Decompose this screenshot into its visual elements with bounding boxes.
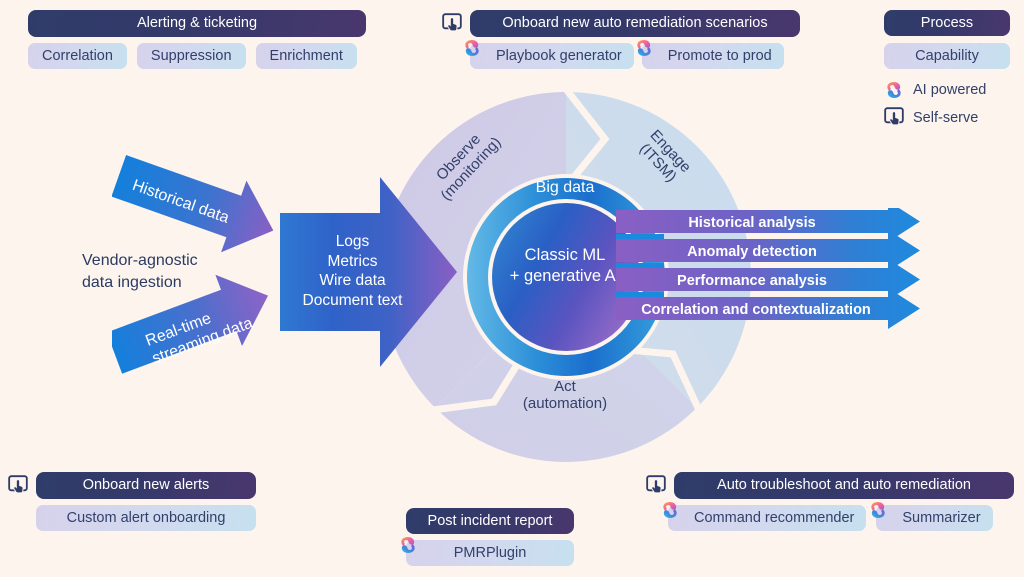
output-label-performance-analysis: Performance analysis xyxy=(616,273,888,289)
ingestion-caption-line2: data ingestion xyxy=(82,272,252,294)
output-label-historical-analysis: Historical analysis xyxy=(616,215,888,231)
copilot-icon xyxy=(868,500,888,520)
copilot-icon xyxy=(884,80,904,100)
ingestion-caption-line1: Vendor-agnostic xyxy=(82,250,252,272)
process-alerting-ticketing[interactable]: Alerting & ticketing xyxy=(28,10,366,37)
group-post-incident-report: Post incident report PMRPlugin xyxy=(406,508,574,566)
ring-label-act: Act (automation) xyxy=(505,378,625,413)
capability-pmrplugin[interactable]: PMRPlugin xyxy=(406,540,574,566)
legend: Process Capability AI power xyxy=(884,10,1010,128)
diagram-canvas: Observe (monitoring) Engage (ITSM) Act (… xyxy=(0,0,1024,577)
ring-label-act-line1: Act xyxy=(505,378,625,395)
copilot-icon xyxy=(462,38,482,58)
capability-playbook-generator[interactable]: Playbook generator xyxy=(470,43,634,69)
copilot-icon xyxy=(398,535,418,555)
self-serve-icon xyxy=(884,107,904,128)
group-auto-troubleshoot: Auto troubleshoot and auto remediation xyxy=(646,472,1014,531)
process-onboard-auto-remediation[interactable]: Onboard new auto remediation scenarios xyxy=(470,10,800,37)
pipeline-item-metrics: Metrics xyxy=(290,252,415,272)
self-serve-icon xyxy=(8,475,28,496)
capability-summarizer-label: Summarizer xyxy=(902,511,980,526)
legend-ai-powered-label: AI powered xyxy=(913,82,986,98)
legend-self-serve-label: Self-serve xyxy=(913,110,978,126)
process-post-incident-report[interactable]: Post incident report xyxy=(406,508,574,534)
process-onboard-new-alerts[interactable]: Onboard new alerts xyxy=(36,472,256,499)
legend-self-serve: Self-serve xyxy=(884,107,1010,128)
pipeline-item-wire-data: Wire data xyxy=(290,271,415,291)
capability-summarizer[interactable]: Summarizer xyxy=(876,505,992,531)
capability-command-recommender-label: Command recommender xyxy=(694,511,854,526)
self-serve-icon xyxy=(646,475,666,496)
group-onboard-auto-remediation: Onboard new auto remediation scenarios xyxy=(442,10,800,69)
copilot-icon xyxy=(660,500,680,520)
capability-custom-alert-onboarding[interactable]: Custom alert onboarding xyxy=(36,505,256,531)
capability-playbook-generator-label: Playbook generator xyxy=(496,49,622,64)
capability-suppression[interactable]: Suppression xyxy=(137,43,246,69)
capability-command-recommender[interactable]: Command recommender xyxy=(668,505,866,531)
big-data-label: Big data xyxy=(505,179,625,197)
legend-process-swatch: Process xyxy=(884,10,1010,36)
ring-label-act-line2: (automation) xyxy=(505,395,625,412)
capability-enrichment[interactable]: Enrichment xyxy=(256,43,357,69)
capability-promote-to-prod[interactable]: Promote to prod xyxy=(642,43,784,69)
group-alerting-ticketing: Alerting & ticketing Correlation Suppres… xyxy=(28,10,366,69)
legend-ai-powered: AI powered xyxy=(884,80,1010,100)
group-onboard-new-alerts: Onboard new alerts Custom alert onboardi… xyxy=(8,472,256,531)
output-label-correlation-contextualization: Correlation and contextualization xyxy=(616,302,896,318)
pipeline-item-logs: Logs xyxy=(290,232,415,252)
self-serve-icon xyxy=(442,13,462,34)
output-label-anomaly-detection: Anomaly detection xyxy=(616,244,888,260)
pipeline-item-document-text: Document text xyxy=(290,291,415,311)
pipeline-items: Logs Metrics Wire data Document text xyxy=(290,232,415,310)
copilot-icon xyxy=(634,38,654,58)
capability-promote-to-prod-label: Promote to prod xyxy=(668,49,772,64)
capability-pmrplugin-label: PMRPlugin xyxy=(454,546,527,561)
process-auto-troubleshoot-remediation[interactable]: Auto troubleshoot and auto remediation xyxy=(674,472,1014,499)
legend-capability-swatch: Capability xyxy=(884,43,1010,69)
capability-correlation[interactable]: Correlation xyxy=(28,43,127,69)
ingestion-caption: Vendor-agnostic data ingestion xyxy=(82,250,252,293)
